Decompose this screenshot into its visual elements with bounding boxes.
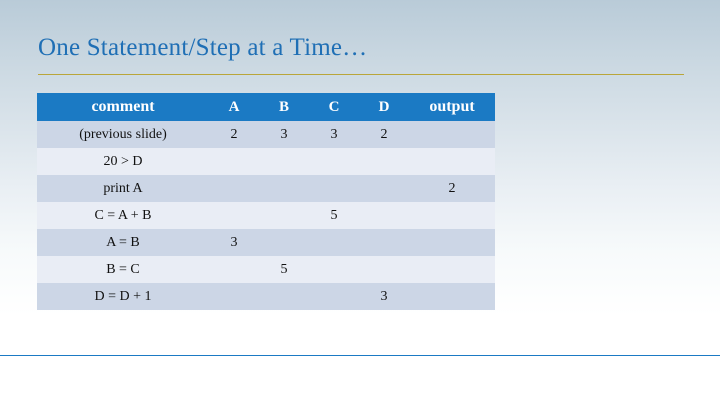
cell-output (409, 148, 495, 175)
cell-b: 3 (259, 121, 309, 148)
table-row: B = C 5 (37, 256, 495, 283)
cell-comment: 20 > D (37, 148, 209, 175)
cell-d (359, 202, 409, 229)
cell-d (359, 229, 409, 256)
cell-comment: D = D + 1 (37, 283, 209, 310)
column-header-a: A (209, 93, 259, 121)
cell-output: 2 (409, 175, 495, 202)
column-header-output: output (409, 93, 495, 121)
cell-c (309, 283, 359, 310)
column-header-d: D (359, 93, 409, 121)
cell-b: 5 (259, 256, 309, 283)
cell-a: 2 (209, 121, 259, 148)
slide: One Statement/Step at a Time… comment A … (0, 0, 720, 405)
cell-b (259, 283, 309, 310)
cell-d: 2 (359, 121, 409, 148)
column-header-c: C (309, 93, 359, 121)
cell-b (259, 148, 309, 175)
table-body: (previous slide) 2 3 3 2 20 > D print (37, 121, 495, 310)
slide-footer: ECE 120: Introduction to Computing © 201… (0, 356, 720, 405)
cell-comment: (previous slide) (37, 121, 209, 148)
cell-output (409, 229, 495, 256)
cell-c (309, 256, 359, 283)
cell-output (409, 283, 495, 310)
column-header-b: B (259, 93, 309, 121)
cell-d (359, 148, 409, 175)
cell-d (359, 175, 409, 202)
cell-b (259, 175, 309, 202)
trace-table: comment A B C D output (previous slide) … (37, 93, 495, 310)
table-row: print A 2 (37, 175, 495, 202)
cell-comment: A = B (37, 229, 209, 256)
cell-b (259, 229, 309, 256)
cell-output (409, 121, 495, 148)
cell-c (309, 175, 359, 202)
table-header-row: comment A B C D output (37, 93, 495, 121)
table-row: (previous slide) 2 3 3 2 (37, 121, 495, 148)
cell-comment: B = C (37, 256, 209, 283)
cell-a: 3 (209, 229, 259, 256)
cell-comment: C = A + B (37, 202, 209, 229)
cell-output (409, 256, 495, 283)
cell-a (209, 256, 259, 283)
table-header: comment A B C D output (37, 93, 495, 121)
column-header-comment: comment (37, 93, 209, 121)
cell-b (259, 202, 309, 229)
trace-table-container: comment A B C D output (previous slide) … (37, 93, 495, 310)
table-row: A = B 3 (37, 229, 495, 256)
cell-c: 3 (309, 121, 359, 148)
cell-d (359, 256, 409, 283)
title-divider (38, 74, 684, 75)
cell-c (309, 229, 359, 256)
cell-a (209, 202, 259, 229)
cell-a (209, 175, 259, 202)
table-row: D = D + 1 3 (37, 283, 495, 310)
cell-c: 5 (309, 202, 359, 229)
cell-d: 3 (359, 283, 409, 310)
cell-a (209, 283, 259, 310)
page-title: One Statement/Step at a Time… (38, 34, 367, 62)
table-row: C = A + B 5 (37, 202, 495, 229)
cell-output (409, 202, 495, 229)
cell-c (309, 148, 359, 175)
cell-a (209, 148, 259, 175)
table-row: 20 > D (37, 148, 495, 175)
cell-comment: print A (37, 175, 209, 202)
